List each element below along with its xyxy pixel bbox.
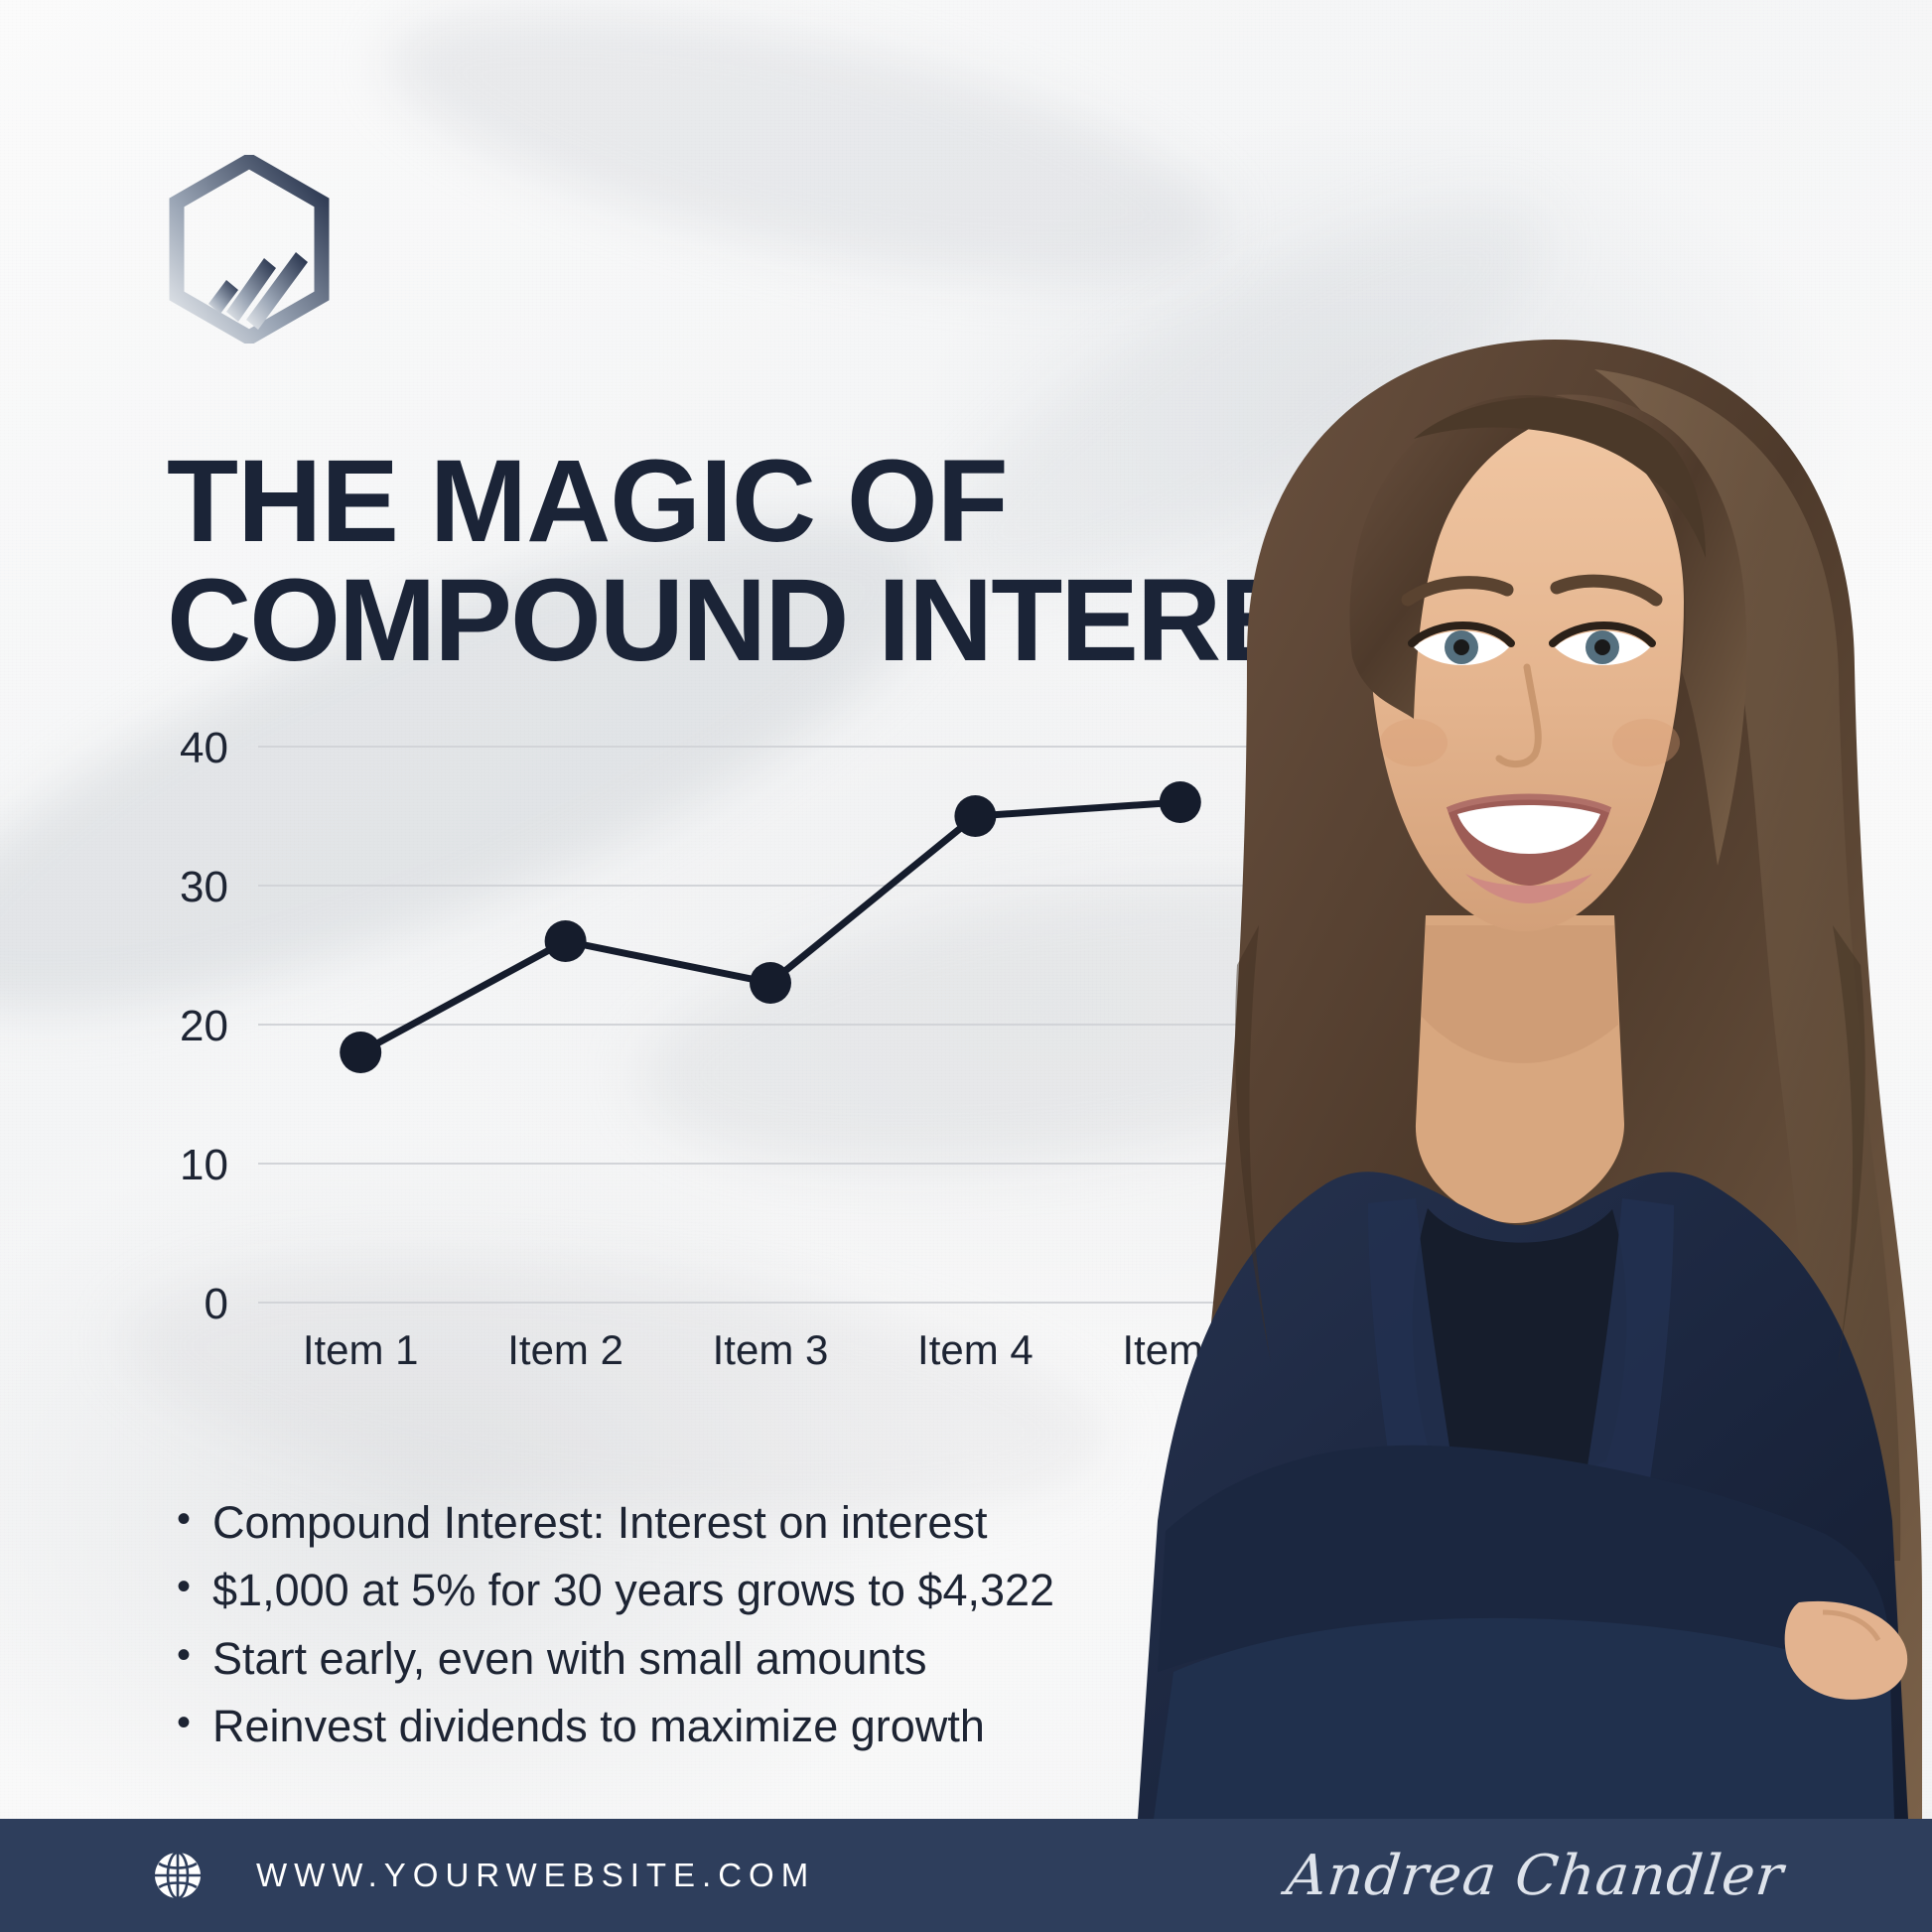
chart-x-tick-label: Item 1 bbox=[303, 1326, 419, 1373]
chart-x-tick-label: Item 3 bbox=[713, 1326, 829, 1373]
chart-data-point bbox=[750, 962, 791, 1004]
presenter-portrait-image bbox=[1009, 230, 1932, 1819]
brand-logo bbox=[165, 155, 334, 344]
presenter-portrait bbox=[1009, 230, 1932, 1819]
website-url[interactable]: WWW.YOURWEBSITE.COM bbox=[256, 1857, 815, 1894]
poster-canvas: The Magic of Compound Interest 010203040… bbox=[0, 0, 1932, 1932]
bullet-marker-icon: • bbox=[177, 1625, 191, 1686]
chart-y-tick-label: 0 bbox=[205, 1280, 228, 1328]
chart-data-point bbox=[954, 795, 996, 837]
hexagon-growth-bars-logo-icon bbox=[165, 155, 334, 344]
bullet-marker-icon: • bbox=[177, 1557, 191, 1617]
headline-line-1: The Magic of bbox=[167, 436, 1008, 567]
bullet-marker-icon: • bbox=[177, 1489, 191, 1550]
globe-icon bbox=[151, 1849, 205, 1902]
chart-y-tick-label: 20 bbox=[180, 1002, 228, 1050]
chart-data-point bbox=[340, 1032, 381, 1073]
chart-y-tick-label: 30 bbox=[180, 863, 228, 911]
chart-y-axis-labels: 010203040 bbox=[180, 724, 228, 1328]
chart-y-tick-label: 10 bbox=[180, 1141, 228, 1189]
signature: Andrea Chandler bbox=[1283, 1844, 1786, 1908]
chart-y-tick-label: 40 bbox=[180, 724, 228, 772]
bullet-marker-icon: • bbox=[177, 1693, 191, 1753]
chart-x-tick-label: Item 2 bbox=[507, 1326, 623, 1373]
footer-bar: WWW.YOURWEBSITE.COM Andrea Chandler bbox=[0, 1819, 1932, 1932]
chart-data-point bbox=[545, 920, 587, 962]
